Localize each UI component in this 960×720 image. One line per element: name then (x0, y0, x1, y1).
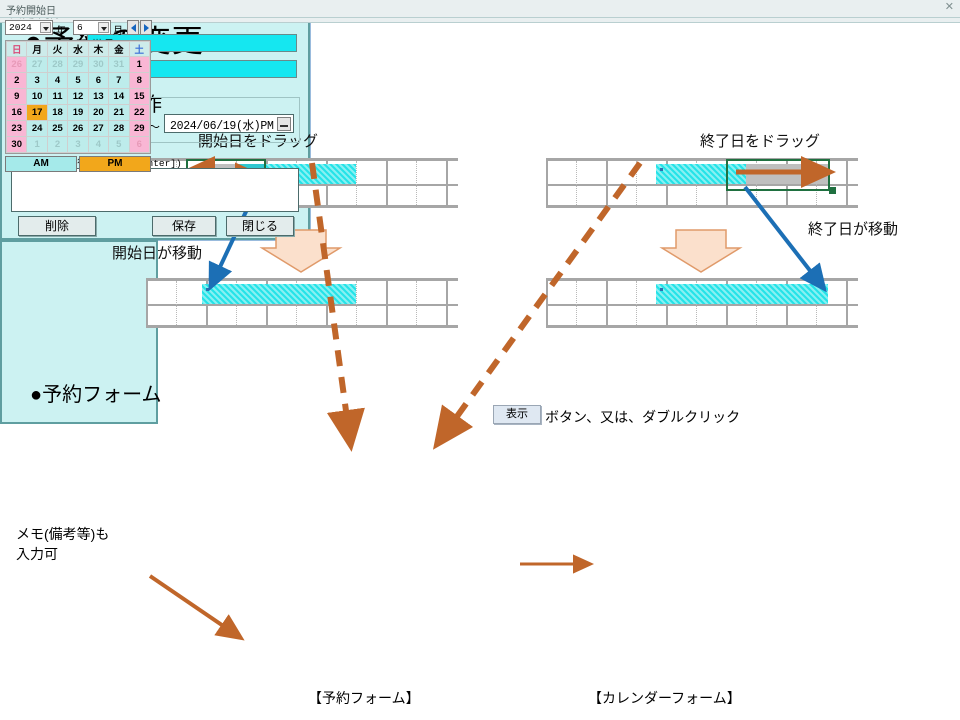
bar-marker (660, 168, 663, 171)
calendar-week-row: 23242526272829 (7, 121, 150, 137)
pm-button[interactable]: PM (79, 156, 151, 172)
drag-handle[interactable] (829, 187, 836, 194)
calendar-day-cell[interactable]: 5 (68, 73, 88, 89)
prev-month-button[interactable] (127, 20, 139, 35)
timeline-grid-before-end-drag[interactable] (546, 158, 858, 208)
grid-halfline (416, 281, 417, 325)
calendar-day-cell[interactable]: 20 (88, 105, 108, 121)
calendar-day-cell[interactable]: 26 (7, 57, 27, 73)
calendar-day-cell[interactable]: 3 (27, 73, 47, 89)
month-unit: 月 (113, 22, 123, 37)
grid-vline (546, 281, 548, 325)
close-button[interactable]: 閉じる (226, 216, 294, 236)
calendar-day-cell[interactable]: 26 (68, 121, 88, 137)
chevron-down-icon[interactable] (40, 22, 51, 33)
grid-rowline (546, 304, 858, 306)
year-select[interactable]: 2024 (5, 20, 53, 35)
calendar-weekday-header: 金 (109, 42, 129, 57)
am-button[interactable]: AM (5, 156, 77, 172)
calendar-week-row: 16171819202122 (7, 105, 150, 121)
calendar-day-cell[interactable]: 4 (47, 73, 67, 89)
grid-halfline (576, 281, 577, 325)
grid-vline (446, 161, 448, 205)
calendar-weekday-header: 土 (129, 42, 149, 57)
calendar-day-cell[interactable]: 14 (109, 89, 129, 105)
calendar-day-cell[interactable]: 22 (129, 105, 149, 121)
calendar-weekday-header: 木 (88, 42, 108, 57)
calendar-day-cell[interactable]: 7 (109, 73, 129, 89)
calendar-day-cell[interactable]: 28 (109, 121, 129, 137)
calendar-day-cell[interactable]: 8 (129, 73, 149, 89)
calendar-weekday-header: 火 (47, 42, 67, 57)
grid-rowline (146, 304, 458, 306)
timeline-grid-after-end-drag[interactable] (546, 278, 858, 328)
calendar-weekday-header: 日 (7, 42, 27, 57)
calendar-day-cell[interactable]: 29 (68, 57, 88, 73)
calendar-body: 2627282930311234567891011121314151617181… (7, 57, 150, 153)
calendar-week-row: 9101112131415 (7, 89, 150, 105)
memo-annotation: メモ(備考等)も 入力可 (16, 524, 109, 564)
calendar-weekday-header: 水 (68, 42, 88, 57)
calendar-day-cell[interactable]: 28 (47, 57, 67, 73)
year-value: 2024 (9, 22, 32, 33)
calendar-day-cell[interactable]: 12 (68, 89, 88, 105)
calendar-day-cell[interactable]: 19 (68, 105, 88, 121)
calendar-day-cell[interactable]: 24 (27, 121, 47, 137)
memo-annotation-line1: メモ(備考等)も (16, 524, 109, 544)
section-heading-form: ●予約フォーム (30, 378, 161, 407)
drag-selection-box[interactable] (726, 159, 830, 191)
delete-button[interactable]: 削除 (18, 216, 96, 236)
calendar-table: 日月火水木金土 26272829303112345678910111213141… (6, 41, 150, 153)
chevron-down-icon[interactable] (98, 22, 109, 33)
calendar-day-cell[interactable]: 10 (27, 89, 47, 105)
grid-vline (846, 161, 848, 205)
calendar-ampm-row: AM PM (5, 156, 151, 172)
calendar-day-cell[interactable]: 6 (88, 73, 108, 89)
label-end-moved: 終了日が移動 (808, 218, 898, 239)
calendar-day-cell[interactable]: 17 (27, 105, 47, 121)
grid-vline (606, 161, 608, 205)
grid-vline (446, 281, 448, 325)
label-drag-end-date: 終了日をドラッグ (700, 130, 820, 151)
calendar-day-cell[interactable]: 29 (129, 121, 149, 137)
month-select[interactable]: 6 (73, 20, 111, 35)
next-month-button[interactable] (140, 20, 152, 35)
grid-halfline (636, 161, 637, 205)
calendar-grid[interactable]: 日月火水木金土 26272829303112345678910111213141… (5, 40, 151, 154)
grid-halfline (176, 281, 177, 325)
calendar-day-cell[interactable]: 13 (88, 89, 108, 105)
save-button[interactable]: 保存 (152, 216, 216, 236)
calendar-controls: 2024 年 6 月 (5, 20, 151, 37)
calendar-day-cell[interactable]: 11 (47, 89, 67, 105)
display-button[interactable]: 表示 (493, 405, 541, 424)
bar-marker (660, 288, 663, 291)
caption-calendar-form: 【カレンダーフォーム】 (588, 688, 741, 708)
calendar-day-cell[interactable]: 2 (47, 137, 67, 153)
grid-vline (606, 281, 608, 325)
label-start-moved: 開始日が移動 (112, 242, 202, 263)
close-icon[interactable]: ✕ (945, 1, 954, 13)
reservation-bar[interactable] (202, 284, 356, 304)
memo-annotation-line2: 入力可 (16, 544, 109, 564)
calendar-day-cell[interactable]: 18 (47, 105, 67, 121)
calendar-week-row: 2627282930311 (7, 57, 150, 73)
calendar-day-cell[interactable]: 16 (7, 105, 27, 121)
reservation-bar[interactable] (656, 284, 828, 304)
grid-halfline (636, 281, 637, 325)
memo-textarea[interactable] (11, 168, 299, 212)
grid-vline (386, 281, 388, 325)
year-unit: 年 (56, 22, 66, 37)
calendar-day-cell[interactable]: 3 (68, 137, 88, 153)
calendar-day-cell[interactable]: 6 (129, 137, 149, 153)
calendar-day-cell[interactable]: 9 (7, 89, 27, 105)
calendar-week-row: 2345678 (7, 73, 150, 89)
bar-marker (206, 288, 209, 291)
grid-halfline (356, 281, 357, 325)
grid-vline (146, 281, 148, 325)
calendar-day-cell[interactable]: 1 (27, 137, 47, 153)
calendar-header-row: 日月火水木金土 (7, 42, 150, 57)
calendar-form-title: 予約開始日 (6, 2, 56, 17)
grid-halfline (576, 161, 577, 205)
calendar-day-cell[interactable]: 27 (27, 57, 47, 73)
grid-vline (846, 281, 848, 325)
grid-halfline (356, 161, 357, 205)
calendar-day-cell[interactable]: 25 (47, 121, 67, 137)
calendar-weekday-header: 月 (27, 42, 47, 57)
calendar-day-cell[interactable]: 30 (7, 137, 27, 153)
display-note: ボタン、又は、ダブルクリック (545, 407, 740, 427)
grid-vline (546, 161, 548, 205)
grid-vline (386, 161, 388, 205)
calendar-day-cell[interactable]: 21 (109, 105, 129, 121)
end-date-field[interactable]: 2024/06/19(水)PM (164, 114, 294, 133)
calendar-day-cell[interactable]: 4 (88, 137, 108, 153)
calendar-day-cell[interactable]: 30 (88, 57, 108, 73)
calendar-day-cell[interactable]: 2 (7, 73, 27, 89)
calendar-day-cell[interactable]: 23 (7, 121, 27, 137)
calendar-form-titlebar (0, 0, 960, 18)
caption-reservation-form: 【予約フォーム】 (308, 688, 420, 708)
calendar-week-row: 30123456 (7, 137, 150, 153)
end-date-dropdown-icon[interactable] (277, 117, 291, 131)
grid-halfline (416, 161, 417, 205)
end-date-value: 2024/06/19(水)PM (170, 117, 274, 133)
month-value: 6 (77, 22, 83, 33)
calendar-day-cell[interactable]: 1 (129, 57, 149, 73)
calendar-day-cell[interactable]: 5 (109, 137, 129, 153)
calendar-day-cell[interactable]: 31 (109, 57, 129, 73)
timeline-grid-after-start-drag[interactable] (146, 278, 458, 328)
calendar-day-cell[interactable]: 27 (88, 121, 108, 137)
calendar-day-cell[interactable]: 15 (129, 89, 149, 105)
